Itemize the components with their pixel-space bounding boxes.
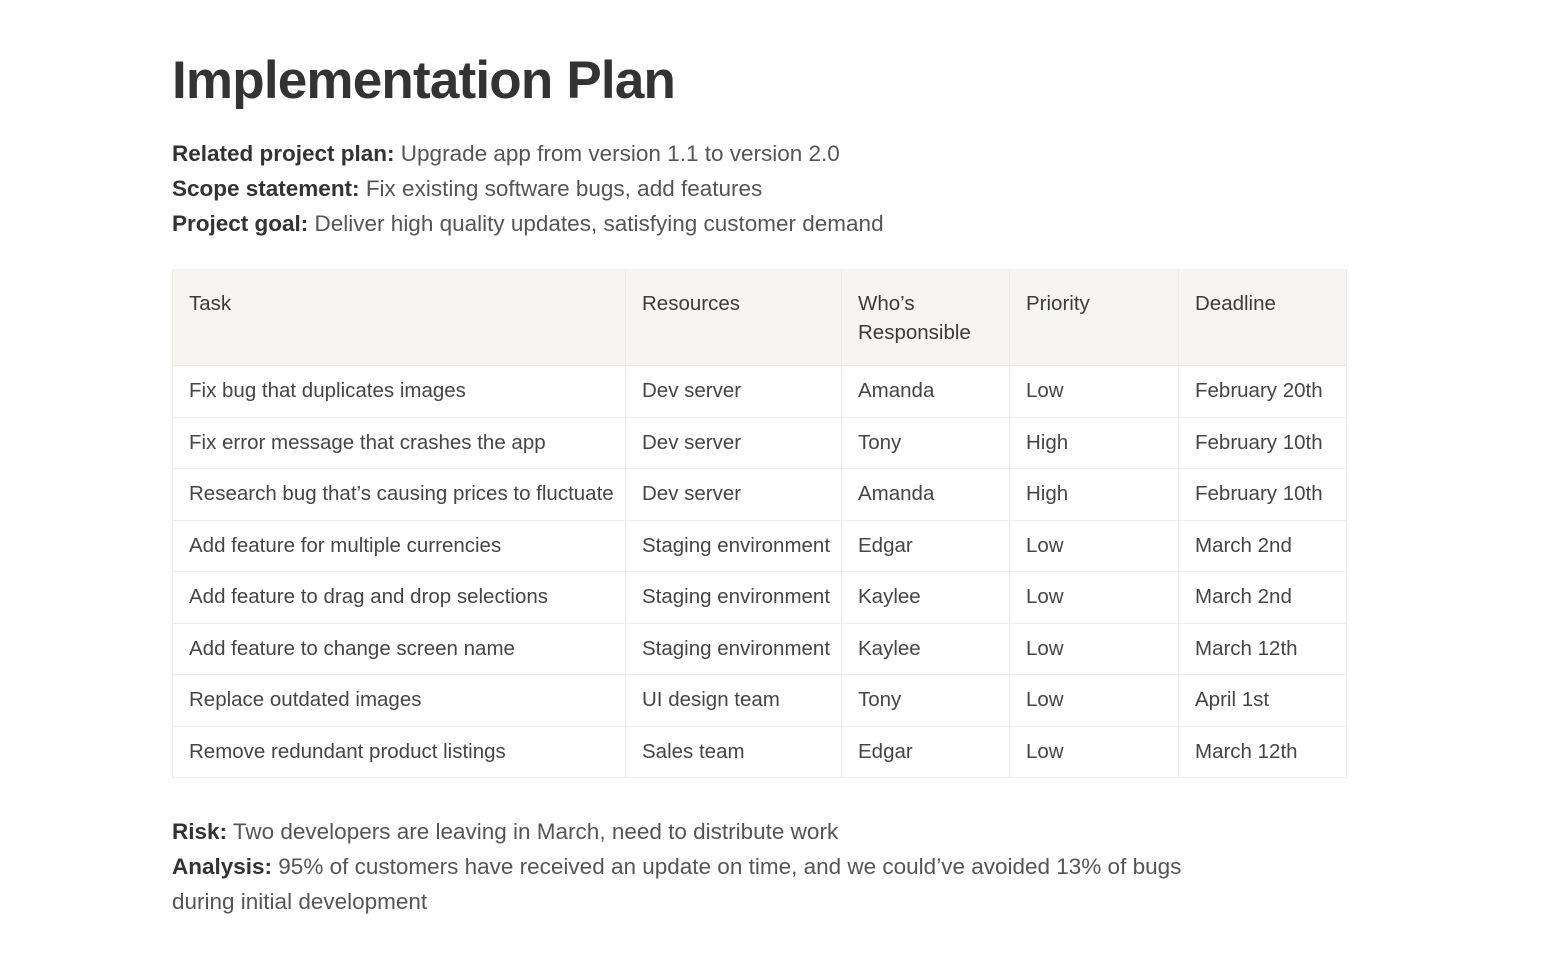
cell-who-responsible: Amanda — [842, 366, 1010, 418]
table-row: Add feature to change screen name Stagin… — [173, 623, 1347, 675]
meta-value-related-project-plan: Upgrade app from version 1.1 to version … — [395, 141, 840, 166]
cell-resources: Dev server — [626, 417, 842, 469]
column-header-who-responsible-label-line1: Who’s — [858, 292, 915, 315]
cell-priority: Low — [1010, 520, 1179, 572]
meta-value-project-goal: Deliver high quality updates, satisfying… — [308, 211, 883, 236]
cell-deadline: March 2nd — [1179, 572, 1347, 624]
table-row: Fix bug that duplicates images Dev serve… — [173, 366, 1347, 418]
table-row: Add feature to drag and drop selections … — [173, 572, 1347, 624]
cell-who-responsible: Amanda — [842, 469, 1010, 521]
table-header-row: Task Resources Who’s Responsible Priorit… — [173, 269, 1347, 366]
cell-priority: High — [1010, 469, 1179, 521]
table-row: Remove redundant product listings Sales … — [173, 726, 1347, 778]
cell-who-responsible: Edgar — [842, 726, 1010, 778]
cell-who-responsible: Edgar — [842, 520, 1010, 572]
table-row: Fix error message that crashes the app D… — [173, 417, 1347, 469]
table-row: Research bug that’s causing prices to fl… — [173, 469, 1347, 521]
meta-label-related-project-plan: Related project plan: — [172, 141, 395, 166]
cell-priority: Low — [1010, 366, 1179, 418]
column-header-task-label: Task — [189, 292, 231, 315]
cell-task: Add feature for multiple currencies — [173, 520, 626, 572]
column-header-who-responsible: Who’s Responsible — [842, 269, 1010, 366]
document-content: Implementation Plan Related project plan… — [172, 0, 1402, 919]
meta-value-scope-statement: Fix existing software bugs, add features — [360, 176, 763, 201]
cell-resources: Dev server — [626, 366, 842, 418]
page-title: Implementation Plan — [172, 0, 1402, 109]
cell-priority: Low — [1010, 675, 1179, 727]
note-label-analysis: Analysis: — [172, 854, 272, 879]
cell-who-responsible: Kaylee — [842, 623, 1010, 675]
table-row: Add feature for multiple currencies Stag… — [173, 520, 1347, 572]
table-body: Fix bug that duplicates images Dev serve… — [173, 366, 1347, 778]
cell-resources: Sales team — [626, 726, 842, 778]
meta-line-related-project-plan: Related project plan: Upgrade app from v… — [172, 136, 1402, 171]
cell-task: Add feature to change screen name — [173, 623, 626, 675]
column-header-priority-label: Priority — [1026, 292, 1090, 315]
table-row: Replace outdated images UI design team T… — [173, 675, 1347, 727]
table-header: Task Resources Who’s Responsible Priorit… — [173, 269, 1347, 366]
column-header-task: Task — [173, 269, 626, 366]
cell-deadline: March 2nd — [1179, 520, 1347, 572]
note-line-analysis: Analysis: 95% of customers have received… — [172, 849, 1232, 919]
document-notes-block: Risk: Two developers are leaving in Marc… — [172, 814, 1232, 919]
implementation-plan-table: Task Resources Who’s Responsible Priorit… — [172, 269, 1347, 778]
cell-deadline: February 10th — [1179, 417, 1347, 469]
cell-deadline: March 12th — [1179, 726, 1347, 778]
cell-deadline: February 10th — [1179, 469, 1347, 521]
column-header-resources: Resources — [626, 269, 842, 366]
meta-line-project-goal: Project goal: Deliver high quality updat… — [172, 206, 1402, 241]
cell-resources: Staging environment — [626, 572, 842, 624]
cell-who-responsible: Tony — [842, 675, 1010, 727]
column-header-priority: Priority — [1010, 269, 1179, 366]
implementation-plan-table-container: Task Resources Who’s Responsible Priorit… — [172, 269, 1346, 778]
cell-deadline: April 1st — [1179, 675, 1347, 727]
document-page: Implementation Plan Related project plan… — [0, 0, 1552, 968]
cell-resources: Staging environment — [626, 520, 842, 572]
cell-task: Remove redundant product listings — [173, 726, 626, 778]
meta-label-project-goal: Project goal: — [172, 211, 308, 236]
cell-task: Research bug that’s causing prices to fl… — [173, 469, 626, 521]
cell-priority: Low — [1010, 623, 1179, 675]
cell-task: Add feature to drag and drop selections — [173, 572, 626, 624]
meta-line-scope-statement: Scope statement: Fix existing software b… — [172, 171, 1402, 206]
note-value-risk: Two developers are leaving in March, nee… — [227, 819, 838, 844]
cell-who-responsible: Kaylee — [842, 572, 1010, 624]
note-label-risk: Risk: — [172, 819, 227, 844]
column-header-deadline: Deadline — [1179, 269, 1347, 366]
cell-resources: UI design team — [626, 675, 842, 727]
column-header-resources-label: Resources — [642, 292, 740, 315]
cell-task: Fix bug that duplicates images — [173, 366, 626, 418]
note-line-risk: Risk: Two developers are leaving in Marc… — [172, 814, 1232, 849]
cell-priority: High — [1010, 417, 1179, 469]
cell-task: Replace outdated images — [173, 675, 626, 727]
cell-deadline: February 20th — [1179, 366, 1347, 418]
cell-resources: Dev server — [626, 469, 842, 521]
cell-deadline: March 12th — [1179, 623, 1347, 675]
meta-label-scope-statement: Scope statement: — [172, 176, 360, 201]
column-header-deadline-label: Deadline — [1195, 292, 1276, 315]
note-value-analysis: 95% of customers have received an update… — [172, 854, 1181, 914]
cell-resources: Staging environment — [626, 623, 842, 675]
cell-task: Fix error message that crashes the app — [173, 417, 626, 469]
cell-who-responsible: Tony — [842, 417, 1010, 469]
cell-priority: Low — [1010, 726, 1179, 778]
cell-priority: Low — [1010, 572, 1179, 624]
column-header-who-responsible-label-line2: Responsible — [858, 321, 971, 344]
document-meta-block: Related project plan: Upgrade app from v… — [172, 136, 1402, 241]
